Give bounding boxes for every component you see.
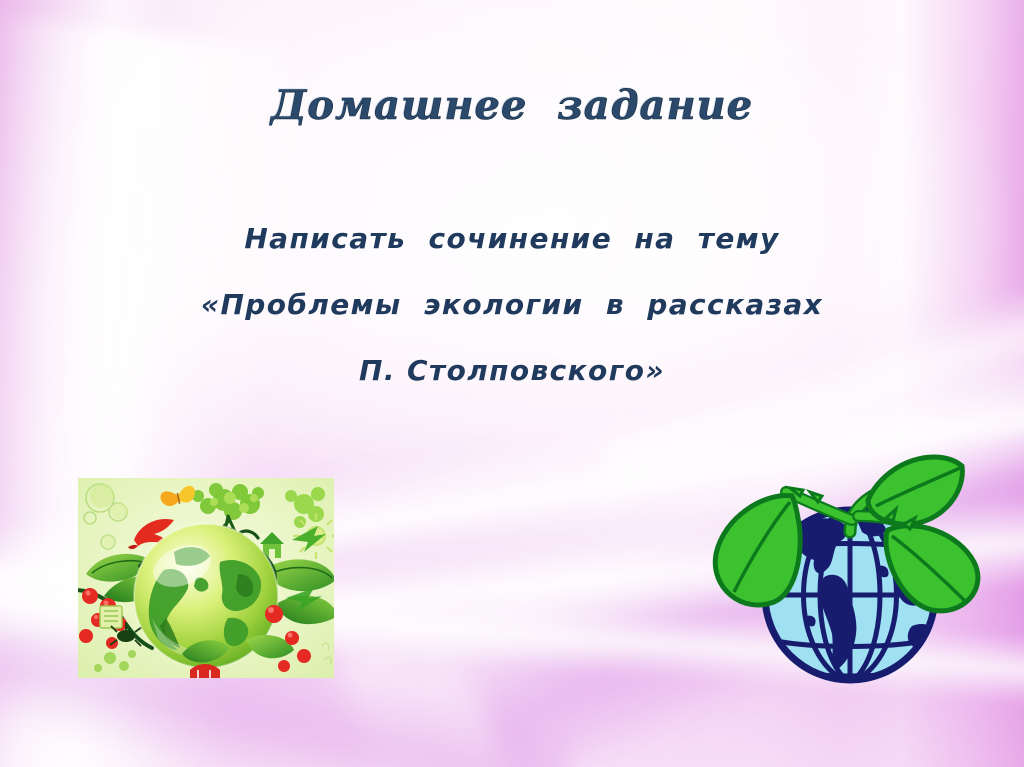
body-line-3: П. Столповского»: [0, 338, 1024, 404]
slide-title: Домашнее задание: [0, 82, 1024, 129]
presentation-slide: Домашнее задание Написать сочинение на т…: [0, 0, 1024, 767]
body-line-1: Написать сочинение на тему: [0, 206, 1024, 272]
globe-apple-image: [700, 420, 990, 700]
slide-body-text: Написать сочинение на тему «Проблемы эко…: [0, 206, 1024, 404]
body-line-2: «Проблемы экологии в рассказах: [0, 272, 1024, 338]
eco-globe-illustration: [78, 478, 334, 678]
eco-globe-image: [78, 478, 334, 678]
globe-apple-illustration: [700, 420, 990, 700]
